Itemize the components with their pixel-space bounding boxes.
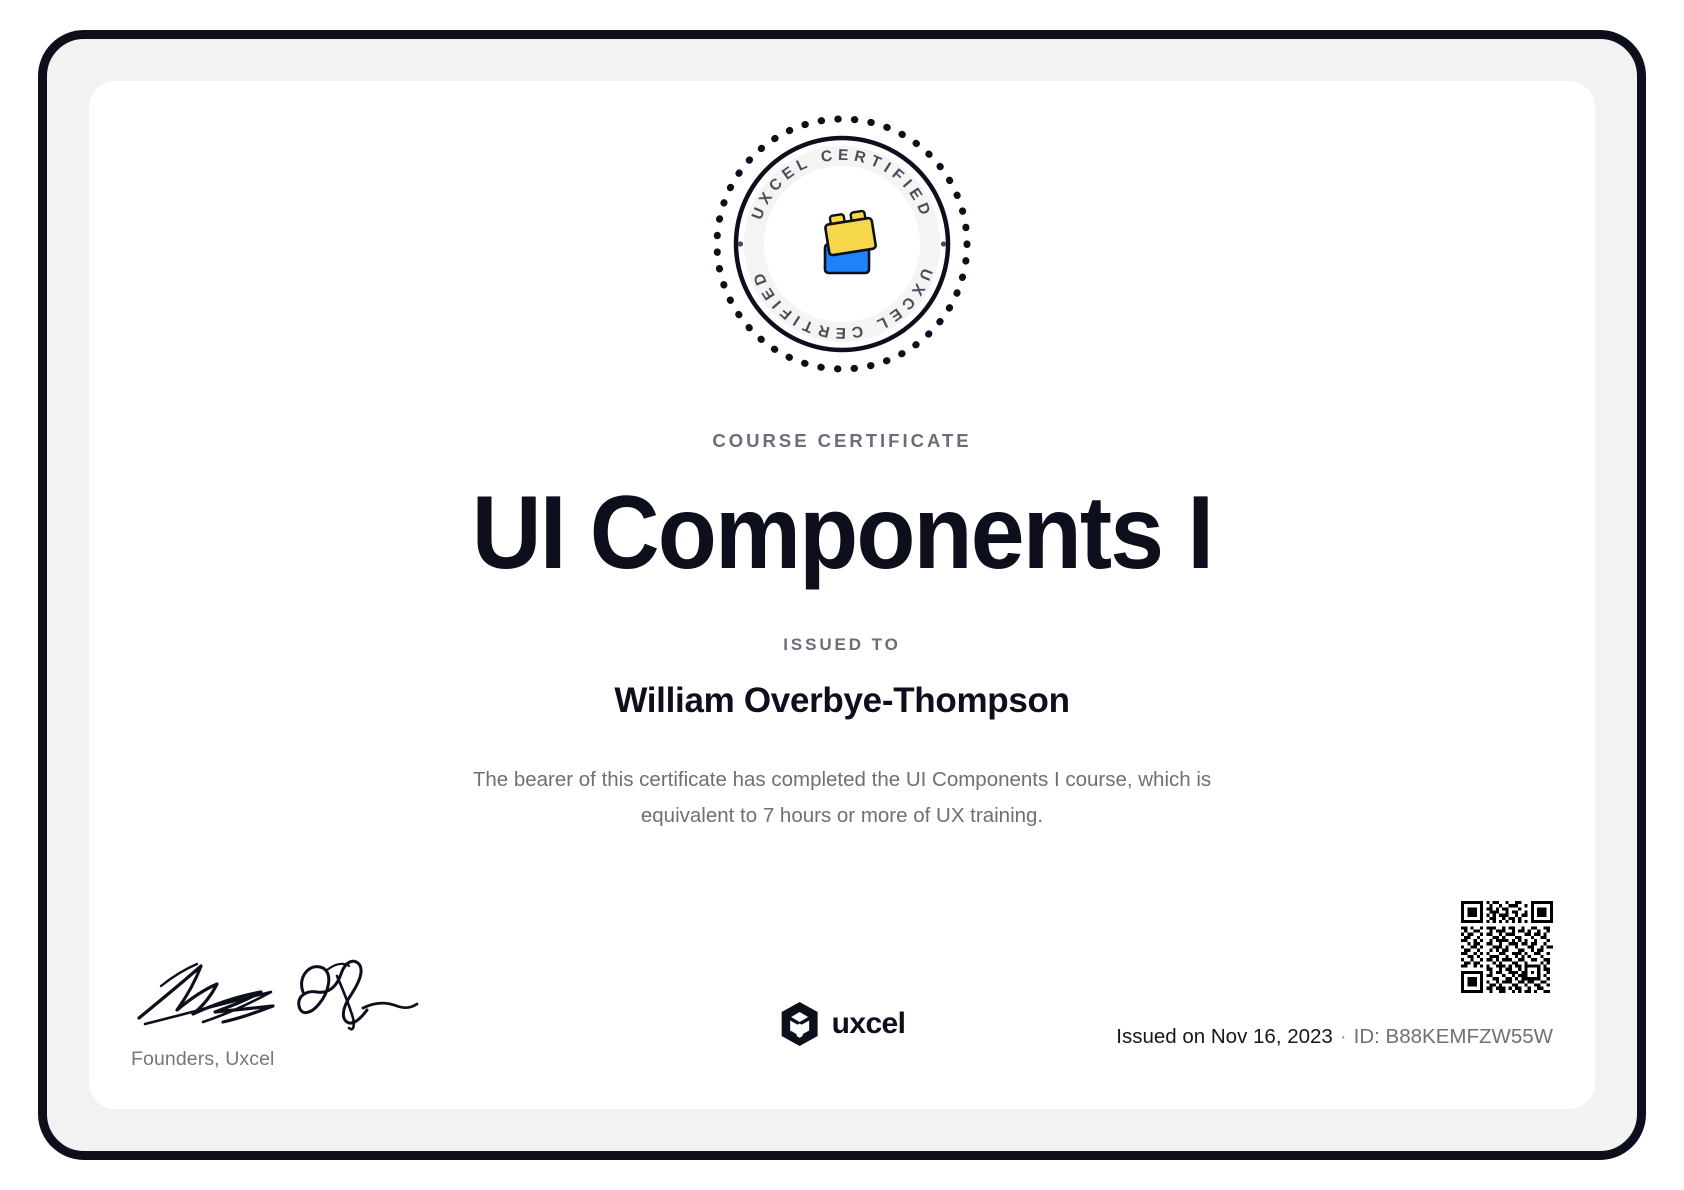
certificate-title: UI Components I xyxy=(142,477,1543,589)
founder-signatures-icon xyxy=(131,956,419,1040)
meta-separator: · xyxy=(1333,1025,1354,1048)
certificate-card: UXCEL CERTIFIED UXCEL CERTIFIED xyxy=(89,81,1595,1109)
issue-date: Issued on Nov 16, 2023 xyxy=(1116,1025,1333,1048)
uxcel-logo: uxcel xyxy=(779,1001,906,1047)
course-certificate-label: COURSE CERTIFICATE xyxy=(89,430,1595,452)
certificate-id: ID: B88KEMFZW55W xyxy=(1354,1025,1553,1048)
certified-seal: UXCEL CERTIFIED UXCEL CERTIFIED xyxy=(711,113,973,375)
issue-meta: Issued on Nov 16, 2023·ID: B88KEMFZW55W xyxy=(1116,1025,1553,1049)
verification-qr-code[interactable] xyxy=(1461,901,1553,993)
uxcel-wordmark: uxcel xyxy=(832,1007,906,1041)
seal-text-separator-right xyxy=(941,241,946,246)
seal-text-separator-left xyxy=(738,241,743,246)
certificate-description: The bearer of this certificate has compl… xyxy=(462,762,1222,834)
qr-code-icon xyxy=(1461,901,1553,993)
founders-label: Founders, Uxcel xyxy=(131,1048,461,1071)
certificate-frame: UXCEL CERTIFIED UXCEL CERTIFIED xyxy=(38,30,1646,1160)
uxcel-hexagon-icon xyxy=(779,1001,821,1047)
signature-block: Founders, Uxcel xyxy=(131,956,461,1071)
recipient-name: William Overbye-Thompson xyxy=(89,681,1595,721)
issued-to-label: ISSUED TO xyxy=(89,635,1595,655)
